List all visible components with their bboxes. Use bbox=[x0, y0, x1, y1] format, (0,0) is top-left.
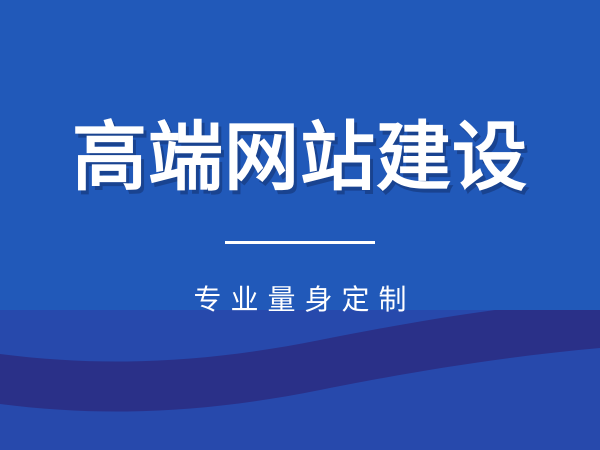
banner-content: 高端网站建设 专业量身定制 bbox=[0, 0, 600, 450]
page-title: 高端网站建设 bbox=[72, 120, 528, 195]
title-divider bbox=[225, 241, 375, 244]
page-subtitle: 专业量身定制 bbox=[184, 286, 415, 314]
promo-banner: 高端网站建设 专业量身定制 bbox=[0, 0, 600, 450]
